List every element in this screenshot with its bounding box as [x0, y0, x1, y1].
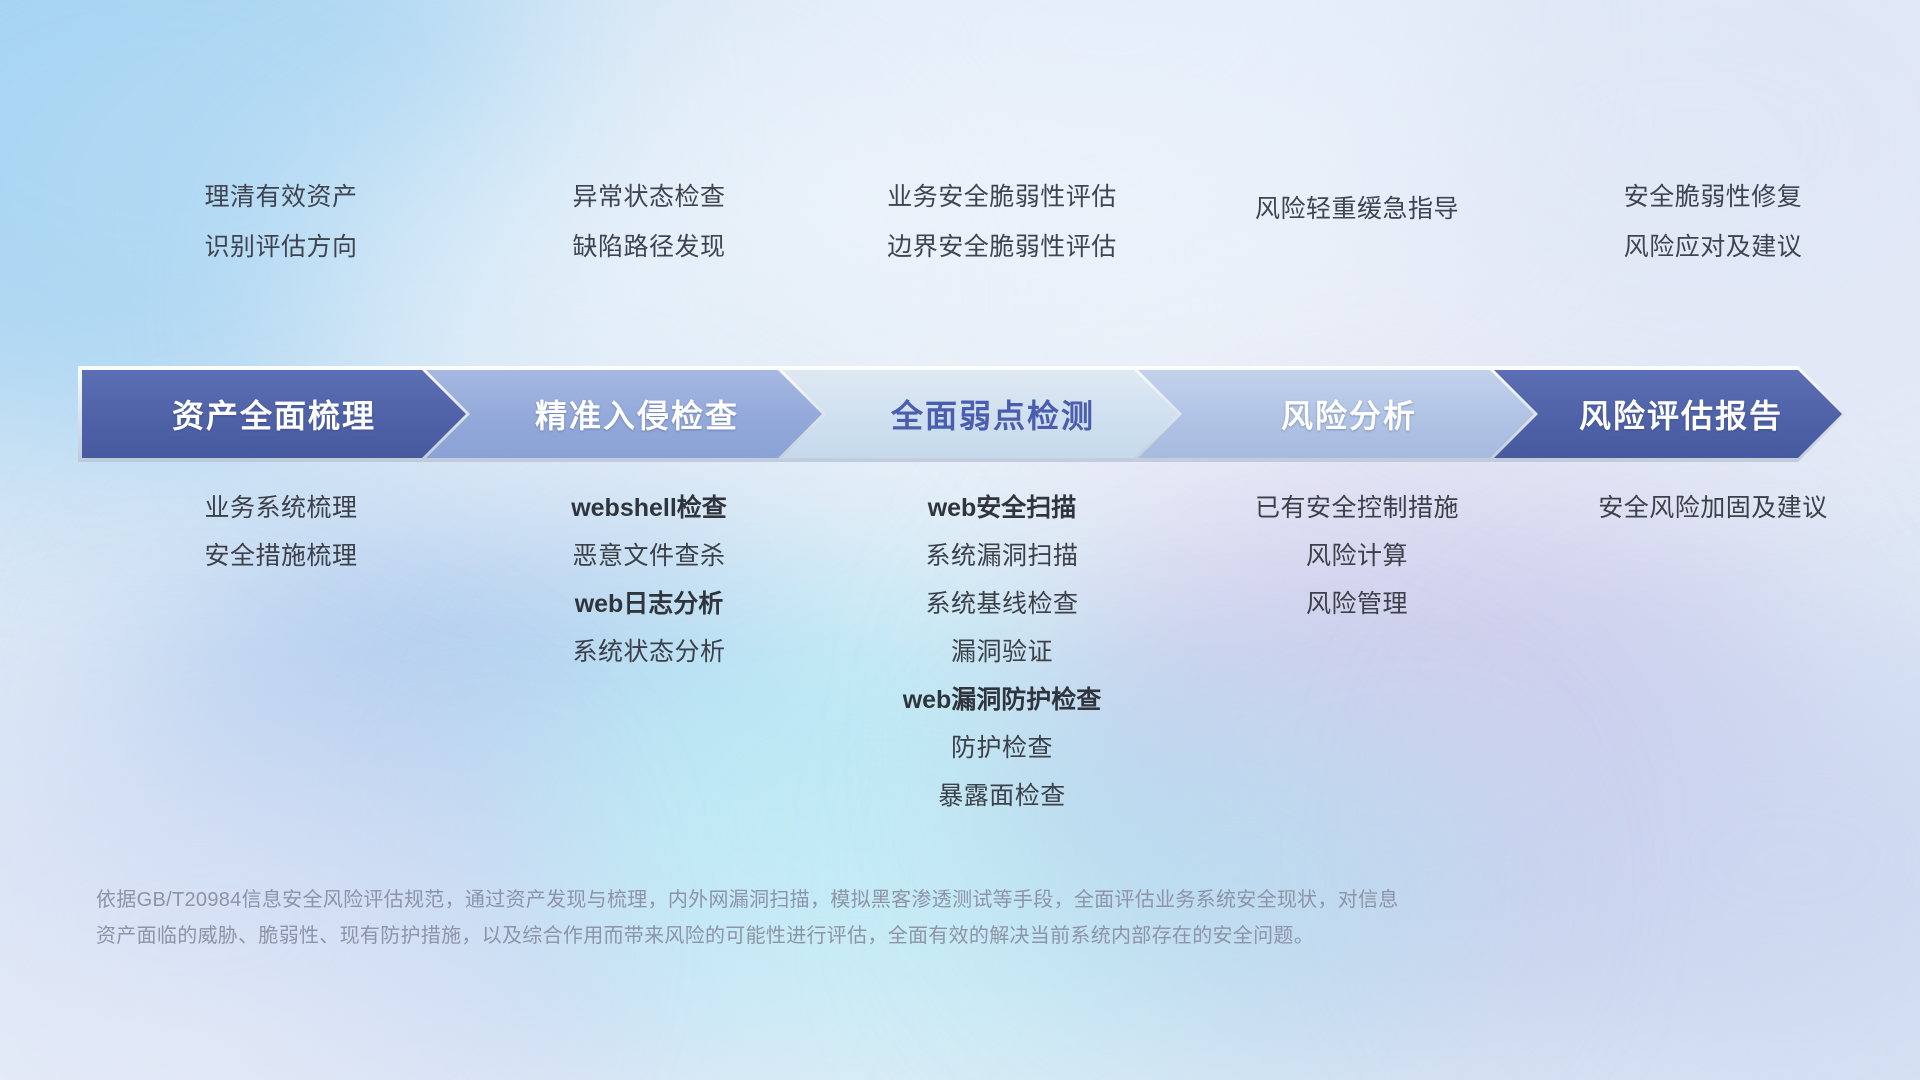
chevron-stage-1[interactable]: 资产全面梳理 — [82, 370, 466, 458]
top-note-line: 异常状态检查 — [472, 172, 826, 222]
list-item: 风险管理 — [1178, 584, 1536, 624]
list-item: web日志分析 — [472, 584, 826, 624]
list-item: 系统状态分析 — [472, 632, 826, 672]
list-item: webshell检查 — [472, 488, 826, 528]
list-item: 漏洞验证 — [826, 632, 1178, 672]
chevron-label: 风险分析 — [1255, 391, 1417, 437]
list-item: web漏洞防护检查 — [826, 680, 1178, 720]
bottom-list-col-5: 安全风险加固及建议 — [1536, 488, 1890, 536]
top-note-line: 理清有效资产 — [90, 172, 472, 222]
bottom-list-col-4: 已有安全控制措施 风险计算 风险管理 — [1178, 488, 1536, 632]
list-item: 防护检查 — [826, 728, 1178, 768]
top-note-line: 风险应对及建议 — [1536, 222, 1890, 272]
bottom-list-col-2: webshell检查 恶意文件查杀 web日志分析 系统状态分析 — [472, 488, 826, 680]
footer-line-2: 资产面临的威胁、脆弱性、现有防护措施，以及综合作用而带来风险的可能性进行评估，全… — [96, 918, 1656, 954]
chevron-label: 全面弱点检测 — [865, 391, 1095, 437]
top-note-line: 风险轻重缓急指导 — [1178, 184, 1536, 234]
footer-line-1: 依据GB/T20984信息安全风险评估规范，通过资产发现与梳理，内外网漏洞扫描，… — [96, 882, 1656, 918]
top-note-line: 边界安全脆弱性评估 — [826, 222, 1178, 272]
top-note-line: 缺陷路径发现 — [472, 222, 826, 272]
top-note-col-5: 安全脆弱性修复 风险应对及建议 — [1536, 172, 1890, 272]
list-item: web安全扫描 — [826, 488, 1178, 528]
bottom-lists-row: 业务系统梳理 安全措施梳理 webshell检查 恶意文件查杀 web日志分析 … — [90, 488, 1890, 824]
list-item: 系统漏洞扫描 — [826, 536, 1178, 576]
bottom-list-col-3: web安全扫描 系统漏洞扫描 系统基线检查 漏洞验证 web漏洞防护检查 防护检… — [826, 488, 1178, 824]
top-note-line: 安全脆弱性修复 — [1536, 172, 1890, 222]
list-item: 安全措施梳理 — [90, 536, 472, 576]
chevron-label: 资产全面梳理 — [172, 391, 376, 437]
list-item: 业务系统梳理 — [90, 488, 472, 528]
chevron-label: 精准入侵检查 — [509, 391, 739, 437]
chevron-stage-5[interactable]: 风险评估报告 — [1494, 370, 1842, 458]
bottom-list-col-1: 业务系统梳理 安全措施梳理 — [90, 488, 472, 584]
list-item: 暴露面检查 — [826, 776, 1178, 816]
chevron-stage-2[interactable]: 精准入侵检查 — [426, 370, 822, 458]
list-item: 安全风险加固及建议 — [1536, 488, 1890, 528]
infographic-canvas: 理清有效资产 识别评估方向 异常状态检查 缺陷路径发现 业务安全脆弱性评估 边界… — [0, 0, 1920, 1080]
footer-description: 依据GB/T20984信息安全风险评估规范，通过资产发现与梳理，内外网漏洞扫描，… — [96, 882, 1656, 954]
chevron-stage-4[interactable]: 风险分析 — [1138, 370, 1534, 458]
top-note-col-3: 业务安全脆弱性评估 边界安全脆弱性评估 — [826, 172, 1178, 272]
top-note-col-1: 理清有效资产 识别评估方向 — [90, 172, 472, 272]
list-item: 已有安全控制措施 — [1178, 488, 1536, 528]
chevron-stage-3[interactable]: 全面弱点检测 — [782, 370, 1178, 458]
top-note-line: 业务安全脆弱性评估 — [826, 172, 1178, 222]
process-chevron-band: 资产全面梳理 精准入侵检查 全面弱点检测 风险分析 风险评估报告 — [78, 370, 1842, 458]
top-notes-row: 理清有效资产 识别评估方向 异常状态检查 缺陷路径发现 业务安全脆弱性评估 边界… — [90, 172, 1890, 272]
top-note-col-4: 风险轻重缓急指导 — [1178, 172, 1536, 234]
top-note-col-2: 异常状态检查 缺陷路径发现 — [472, 172, 826, 272]
top-note-line: 识别评估方向 — [90, 222, 472, 272]
list-item: 系统基线检查 — [826, 584, 1178, 624]
list-item: 风险计算 — [1178, 536, 1536, 576]
list-item: 恶意文件查杀 — [472, 536, 826, 576]
chevron-label: 风险评估报告 — [1553, 391, 1783, 437]
